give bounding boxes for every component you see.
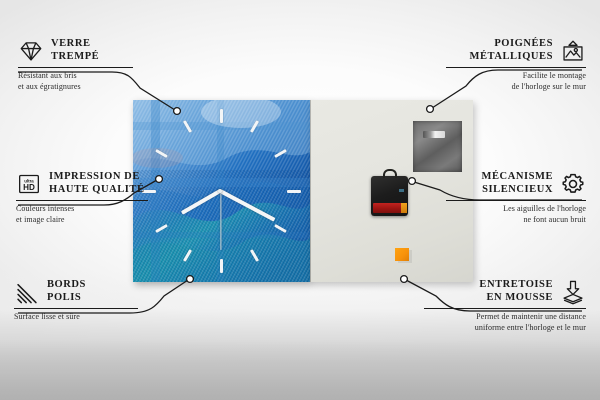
feature-subtitle-line2: uniforme entre l'horloge et le mur [418,323,586,334]
feature-subtitle-line1: Permet de maintenir une distance [418,312,586,323]
feature-title-line1: MÉCANISME [482,171,553,184]
battery [373,203,403,213]
feature-subtitle-line1: Résistant aux bris [18,71,138,82]
feature-divider [18,67,133,68]
feature-divider [424,308,586,309]
feature-subtitle-line1: Surface lisse et sûre [14,312,144,323]
clock-front-panel [133,100,310,282]
feature-title-line2: TREMPÉ [51,51,99,64]
feature-title-line2: SILENCIEUX [482,184,553,197]
feature-divider [14,308,138,309]
feature-divider [446,200,586,201]
feature-mecanisme-silencieux: MÉCANISME SILENCIEUX Les aiguilles de l'… [441,171,586,226]
clock-second-hand [220,191,221,250]
feature-subtitle-line2: et image claire [16,215,156,226]
framed-picture-hanger-icon [560,38,586,64]
feature-header: ENTRETOISE EN MOUSSE [418,279,586,305]
feature-impression-haute-qualite: ultra HD IMPRESSION DE HAUTE QUALITÉ Cou… [16,171,156,226]
metal-hanger-plate [413,121,462,172]
feature-title-line2: EN MOUSSE [479,292,553,305]
feature-title-line2: MÉTALLIQUES [470,51,553,64]
background-shelf-gradient-lower [0,340,600,400]
ultra-hd-icon: ultra HD [16,171,42,197]
feature-verre-trempe: VERRE TREMPÉ Résistant aux bris et aux é… [18,38,138,93]
feature-poignees-metalliques: POIGNÉES MÉTALLIQUES Facilite le montage… [441,38,586,93]
feature-subtitle-line1: Facilite le montage [441,71,586,82]
svg-text:HD: HD [23,183,35,192]
product-image [133,100,473,282]
feature-header: ultra HD IMPRESSION DE HAUTE QUALITÉ [16,171,156,197]
feature-subtitle-line2: de l'horloge sur le mur [441,82,586,93]
feature-header: POIGNÉES MÉTALLIQUES [441,38,586,64]
feature-header: BORDS POLIS [14,279,144,305]
feature-entretoise-en-mousse: ENTRETOISE EN MOUSSE Permet de maintenir… [418,279,586,334]
feature-title-line2: POLIS [47,292,86,305]
foam-spacer [395,248,409,261]
feature-divider [16,200,148,201]
diamond-icon [18,38,44,64]
feature-bords-polis: BORDS POLIS Surface lisse et sûre [14,279,144,323]
feature-title-line1: POIGNÉES [470,38,553,51]
quartz-movement [371,176,408,216]
feature-header: VERRE TREMPÉ [18,38,138,64]
feature-title-line1: IMPRESSION DE [49,171,145,184]
infographic-stage: VERRE TREMPÉ Résistant aux bris et aux é… [0,0,600,400]
feature-subtitle-line2: ne font aucun bruit [441,215,586,226]
feature-divider [446,67,586,68]
feature-title-line2: HAUTE QUALITÉ [49,184,145,197]
movement-detail [399,189,404,192]
feature-header: MÉCANISME SILENCIEUX [441,171,586,197]
clock-center-hub [218,189,222,193]
movement-hanging-loop [383,169,397,178]
feature-subtitle-line1: Couleurs intenses [16,204,156,215]
feature-subtitle-line1: Les aiguilles de l'horloge [441,204,586,215]
feature-title-line1: VERRE [51,38,99,51]
feature-title-line1: BORDS [47,279,86,292]
gear-icon [560,171,586,197]
feature-subtitle-line2: et aux égratignures [18,82,138,93]
battery-terminal [401,203,407,213]
polished-edge-lines-icon [14,279,40,305]
feature-title-line1: ENTRETOISE [479,279,553,292]
foam-spacer-arrow-icon [560,279,586,305]
